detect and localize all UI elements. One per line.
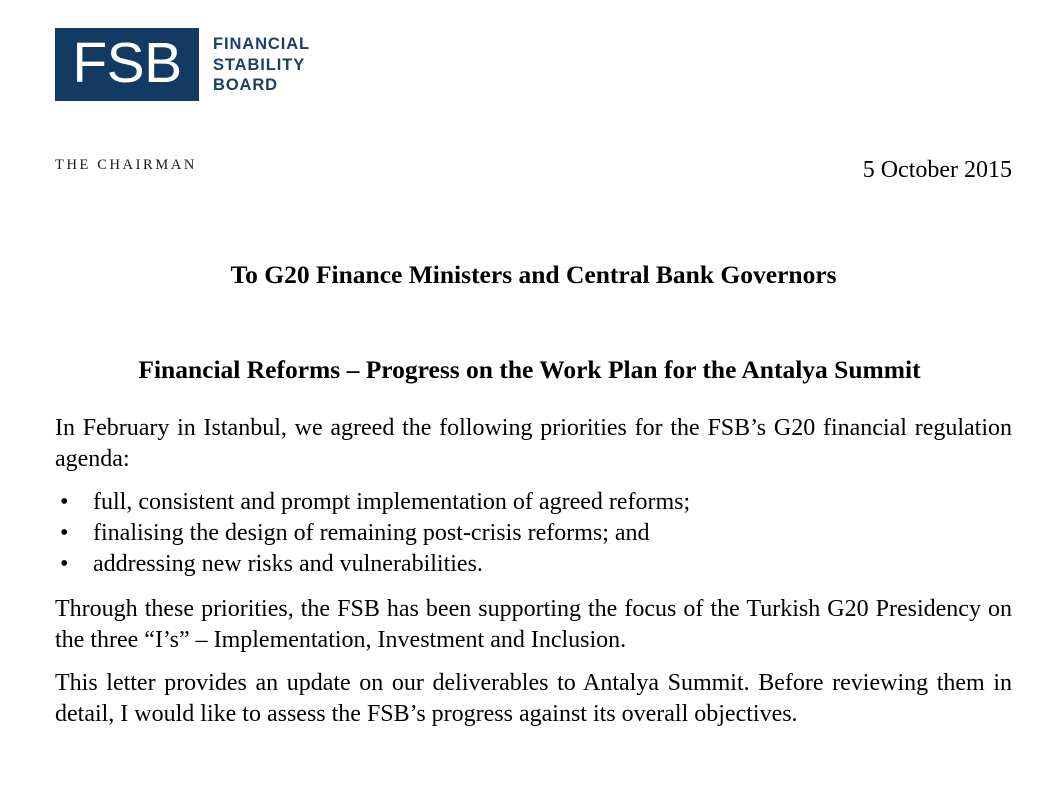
letterhead: FSB FINANCIAL STABILITY BOARD <box>55 28 310 101</box>
document-page: FSB FINANCIAL STABILITY BOARD THE CHAIRM… <box>0 0 1059 792</box>
list-item: • full, consistent and prompt implementa… <box>55 487 1012 518</box>
wordmark-line-financial: FINANCIAL <box>213 34 310 55</box>
bullet-icon: • <box>60 518 68 549</box>
subject-heading: Financial Reforms – Progress on the Work… <box>47 355 1012 385</box>
wordmark-line-board: BOARD <box>213 75 310 96</box>
addressee-heading: To G20 Finance Ministers and Central Ban… <box>55 260 1012 290</box>
document-date: 5 October 2015 <box>863 156 1012 184</box>
list-item-label: addressing new risks and vulnerabilities… <box>93 551 483 577</box>
paragraph-two: Through these priorities, the FSB has be… <box>55 594 1012 656</box>
fsb-logo-text: FSB <box>72 35 181 92</box>
fsb-logo-mark: FSB <box>55 28 199 101</box>
fsb-logo-wordmark: FINANCIAL STABILITY BOARD <box>213 34 310 96</box>
bullet-icon: • <box>60 487 68 518</box>
wordmark-line-stability: STABILITY <box>213 55 310 76</box>
bullet-icon: • <box>60 549 68 580</box>
letter-body: In February in Istanbul, we agreed the f… <box>55 413 1012 730</box>
list-item-label: full, consistent and prompt implementati… <box>93 489 690 515</box>
chairman-label: THE CHAIRMAN <box>55 157 197 174</box>
priorities-list: • full, consistent and prompt implementa… <box>55 487 1012 580</box>
intro-paragraph: In February in Istanbul, we agreed the f… <box>55 413 1012 475</box>
paragraph-three: This letter provides an update on our de… <box>55 668 1012 730</box>
list-item-label: finalising the design of remaining post-… <box>93 520 650 546</box>
list-item: • addressing new risks and vulnerabiliti… <box>55 549 1012 580</box>
list-item: • finalising the design of remaining pos… <box>55 518 1012 549</box>
